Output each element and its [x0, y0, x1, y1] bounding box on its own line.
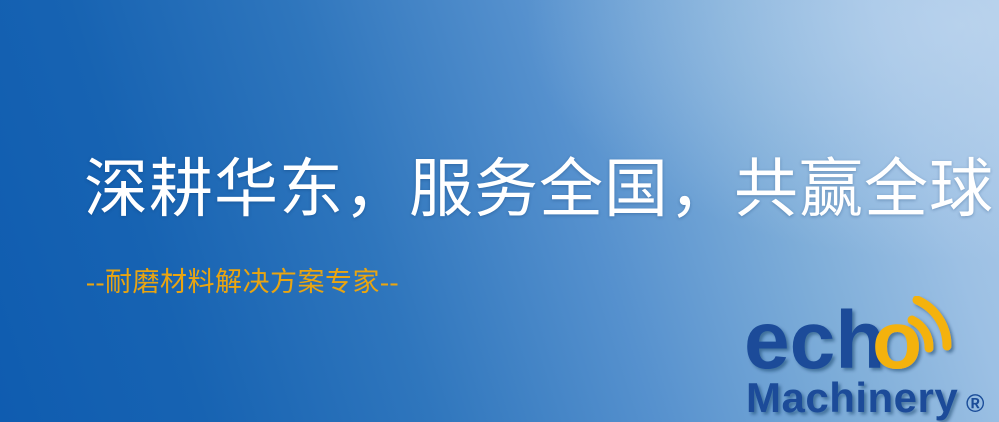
logo-machinery-text: Machinery: [746, 374, 958, 421]
logo-machinery-word: Machinery: [746, 374, 958, 421]
logo-echo-letters: ech: [744, 296, 885, 386]
banner-subtitle: --耐磨材料解决方案专家--: [86, 266, 399, 298]
registered-trademark-icon: ®: [966, 390, 985, 418]
logo-o-text: o: [872, 296, 922, 386]
logo-artwork: ech o Machinery ®: [744, 296, 999, 422]
banner-headline: 深耕华东，服务全国，共赢全球: [84, 152, 994, 228]
company-logo[interactable]: ech o Machinery ®: [744, 296, 999, 422]
logo-ech-text: ech: [744, 296, 885, 386]
logo-o-letter: o: [872, 296, 922, 386]
promotional-banner: 深耕华东，服务全国，共赢全球 --耐磨材料解决方案专家-- ech o: [0, 0, 999, 422]
